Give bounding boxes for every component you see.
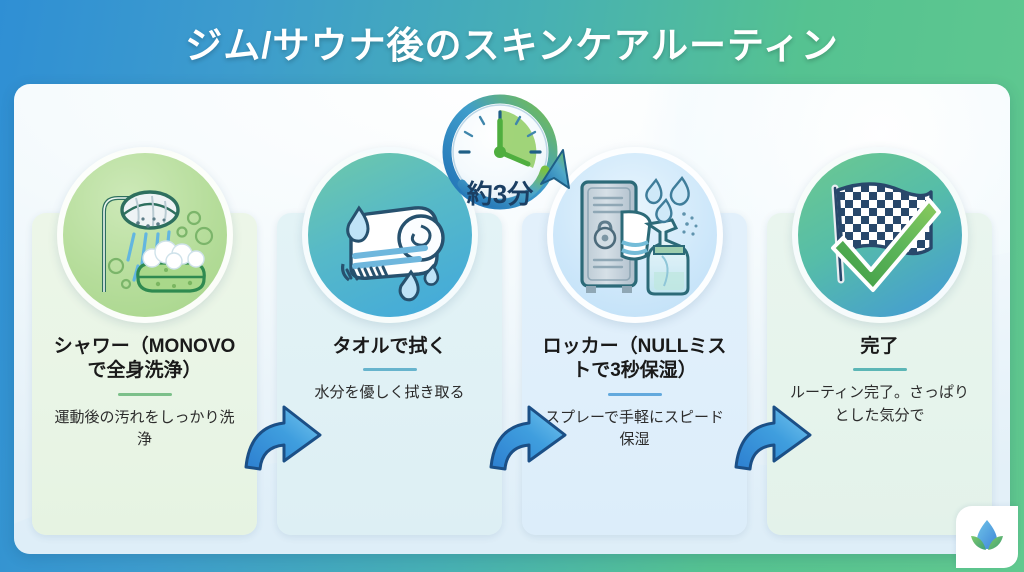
step-title: ロッカー（NULLミストで3秒保湿） bbox=[537, 335, 733, 384]
step-title: 完了 bbox=[782, 335, 978, 359]
infographic-root: ジム/サウナ後のスキンケアルーティン bbox=[0, 0, 1024, 572]
clock-icon bbox=[441, 92, 585, 232]
arrow-step2-to-step3 bbox=[487, 401, 569, 473]
duration-label: 約3分 bbox=[441, 174, 559, 211]
header: ジム/サウナ後のスキンケアルーティン bbox=[0, 0, 1024, 84]
page-title: ジム/サウナ後のスキンケアルーティン bbox=[185, 15, 839, 69]
step-divider bbox=[853, 368, 907, 371]
shower-sponge-icon bbox=[57, 147, 233, 323]
step-divider bbox=[608, 393, 662, 396]
step-divider bbox=[118, 393, 172, 396]
arrow-step1-to-step2 bbox=[242, 401, 324, 473]
checkered-flag-check-icon bbox=[792, 147, 968, 323]
step-card-towel[interactable]: タオルで拭く 水分を優しく拭き取る bbox=[277, 213, 502, 535]
duration-badge: 約3分 bbox=[441, 92, 585, 232]
step-title: タオルで拭く bbox=[292, 335, 488, 359]
step-card-shower[interactable]: シャワー（MONOVOで全身洗浄） 運動後の汚れをしっかり洗浄 bbox=[32, 213, 257, 535]
step-title: シャワー（MONOVOで全身洗浄） bbox=[47, 335, 243, 384]
step-card-locker[interactable]: ロッカー（NULLミストで3秒保湿） スプレーで手軽にスピード保湿 bbox=[522, 213, 747, 535]
step-card-done[interactable]: 完了 ルーティン完了。さっぱりとした気分で bbox=[767, 213, 992, 535]
arrow-step3-to-step4 bbox=[732, 401, 814, 473]
step-divider bbox=[363, 368, 417, 371]
step-description: 運動後の汚れをしっかり洗浄 bbox=[50, 407, 240, 451]
brand-leaf-drop-logo bbox=[956, 506, 1018, 568]
